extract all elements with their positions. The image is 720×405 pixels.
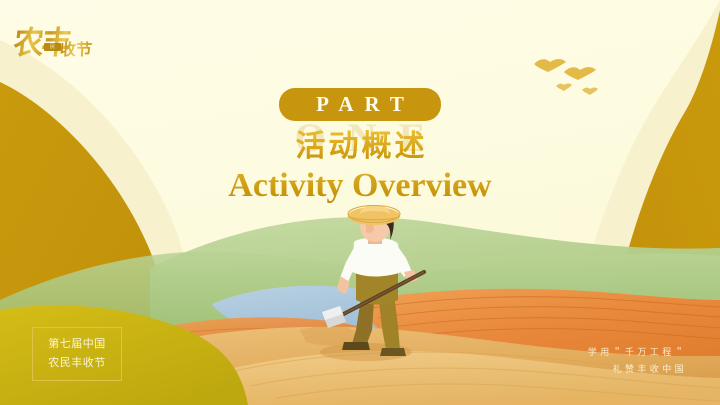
section-title-english: Activity Overview: [0, 166, 720, 207]
logo-seal-stamp: 民: [44, 43, 61, 51]
presentation-slide: 农丰 民 收节 ONE PART 活动概述 Activity Overview …: [0, 0, 720, 405]
festival-logo: 农丰 民 收节: [14, 16, 126, 62]
part-label-pill: PART: [279, 88, 441, 121]
event-name-badge: 第七届中国 农民丰收节: [32, 327, 122, 381]
event-slogan: 学用＂千万工程＂ 礼赞丰收中国: [588, 344, 687, 378]
logo-sub-text: 收节: [59, 36, 93, 60]
slogan-line-1: 学用＂千万工程＂: [588, 344, 687, 361]
section-title-block: ONE PART 活动概述 Activity Overview: [0, 88, 720, 206]
slogan-line-2: 礼赞丰收中国: [588, 361, 687, 378]
badge-line-1: 第七届中国: [48, 335, 106, 354]
section-title-chinese: 活动概述: [0, 130, 720, 165]
badge-line-2: 农民丰收节: [48, 354, 106, 373]
